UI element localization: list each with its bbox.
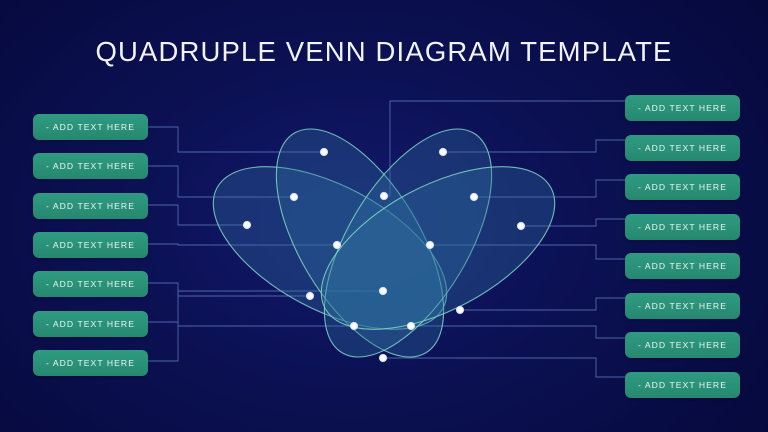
label-chip-right-2[interactable]: - ADD TEXT HERE xyxy=(625,135,740,161)
region-dot-r11[interactable] xyxy=(517,222,525,230)
label-chip-left-3[interactable]: - ADD TEXT HERE xyxy=(33,193,148,219)
label-chip-right-4[interactable]: - ADD TEXT HERE xyxy=(625,214,740,240)
region-dot-r8[interactable] xyxy=(380,192,388,200)
region-dot-r3[interactable] xyxy=(243,221,251,229)
region-dot-r4[interactable] xyxy=(333,241,341,249)
label-chip-left-4[interactable]: - ADD TEXT HERE xyxy=(33,232,148,258)
region-dot-r10[interactable] xyxy=(470,193,478,201)
region-dot-r13[interactable] xyxy=(456,306,464,314)
label-chip-left-1[interactable]: - ADD TEXT HERE xyxy=(33,114,148,140)
label-chip-right-3[interactable]: - ADD TEXT HERE xyxy=(625,174,740,200)
region-dot-r12[interactable] xyxy=(426,241,434,249)
label-chip-right-7[interactable]: - ADD TEXT HERE xyxy=(625,332,740,358)
label-chip-left-7[interactable]: - ADD TEXT HERE xyxy=(33,350,148,376)
region-dot-r14[interactable] xyxy=(407,322,415,330)
region-dot-r2[interactable] xyxy=(290,193,298,201)
slide-canvas: QUADRUPLE VENN DIAGRAM TEMPLATE xyxy=(0,0,768,432)
label-chip-left-2[interactable]: - ADD TEXT HERE xyxy=(33,153,148,179)
region-dot-r9[interactable] xyxy=(439,148,447,156)
region-dot-r15[interactable] xyxy=(379,354,387,362)
region-dot-r5[interactable] xyxy=(306,292,314,300)
label-chip-right-6[interactable]: - ADD TEXT HERE xyxy=(625,293,740,319)
label-chip-left-6[interactable]: - ADD TEXT HERE xyxy=(33,311,148,337)
region-dot-r1[interactable] xyxy=(320,148,328,156)
label-chip-left-5[interactable]: - ADD TEXT HERE xyxy=(33,271,148,297)
region-dot-r6[interactable] xyxy=(350,322,358,330)
label-chip-right-1[interactable]: - ADD TEXT HERE xyxy=(625,95,740,121)
label-chip-right-5[interactable]: - ADD TEXT HERE xyxy=(625,253,740,279)
label-chip-right-8[interactable]: - ADD TEXT HERE xyxy=(625,372,740,398)
region-dot-r7[interactable] xyxy=(379,287,387,295)
